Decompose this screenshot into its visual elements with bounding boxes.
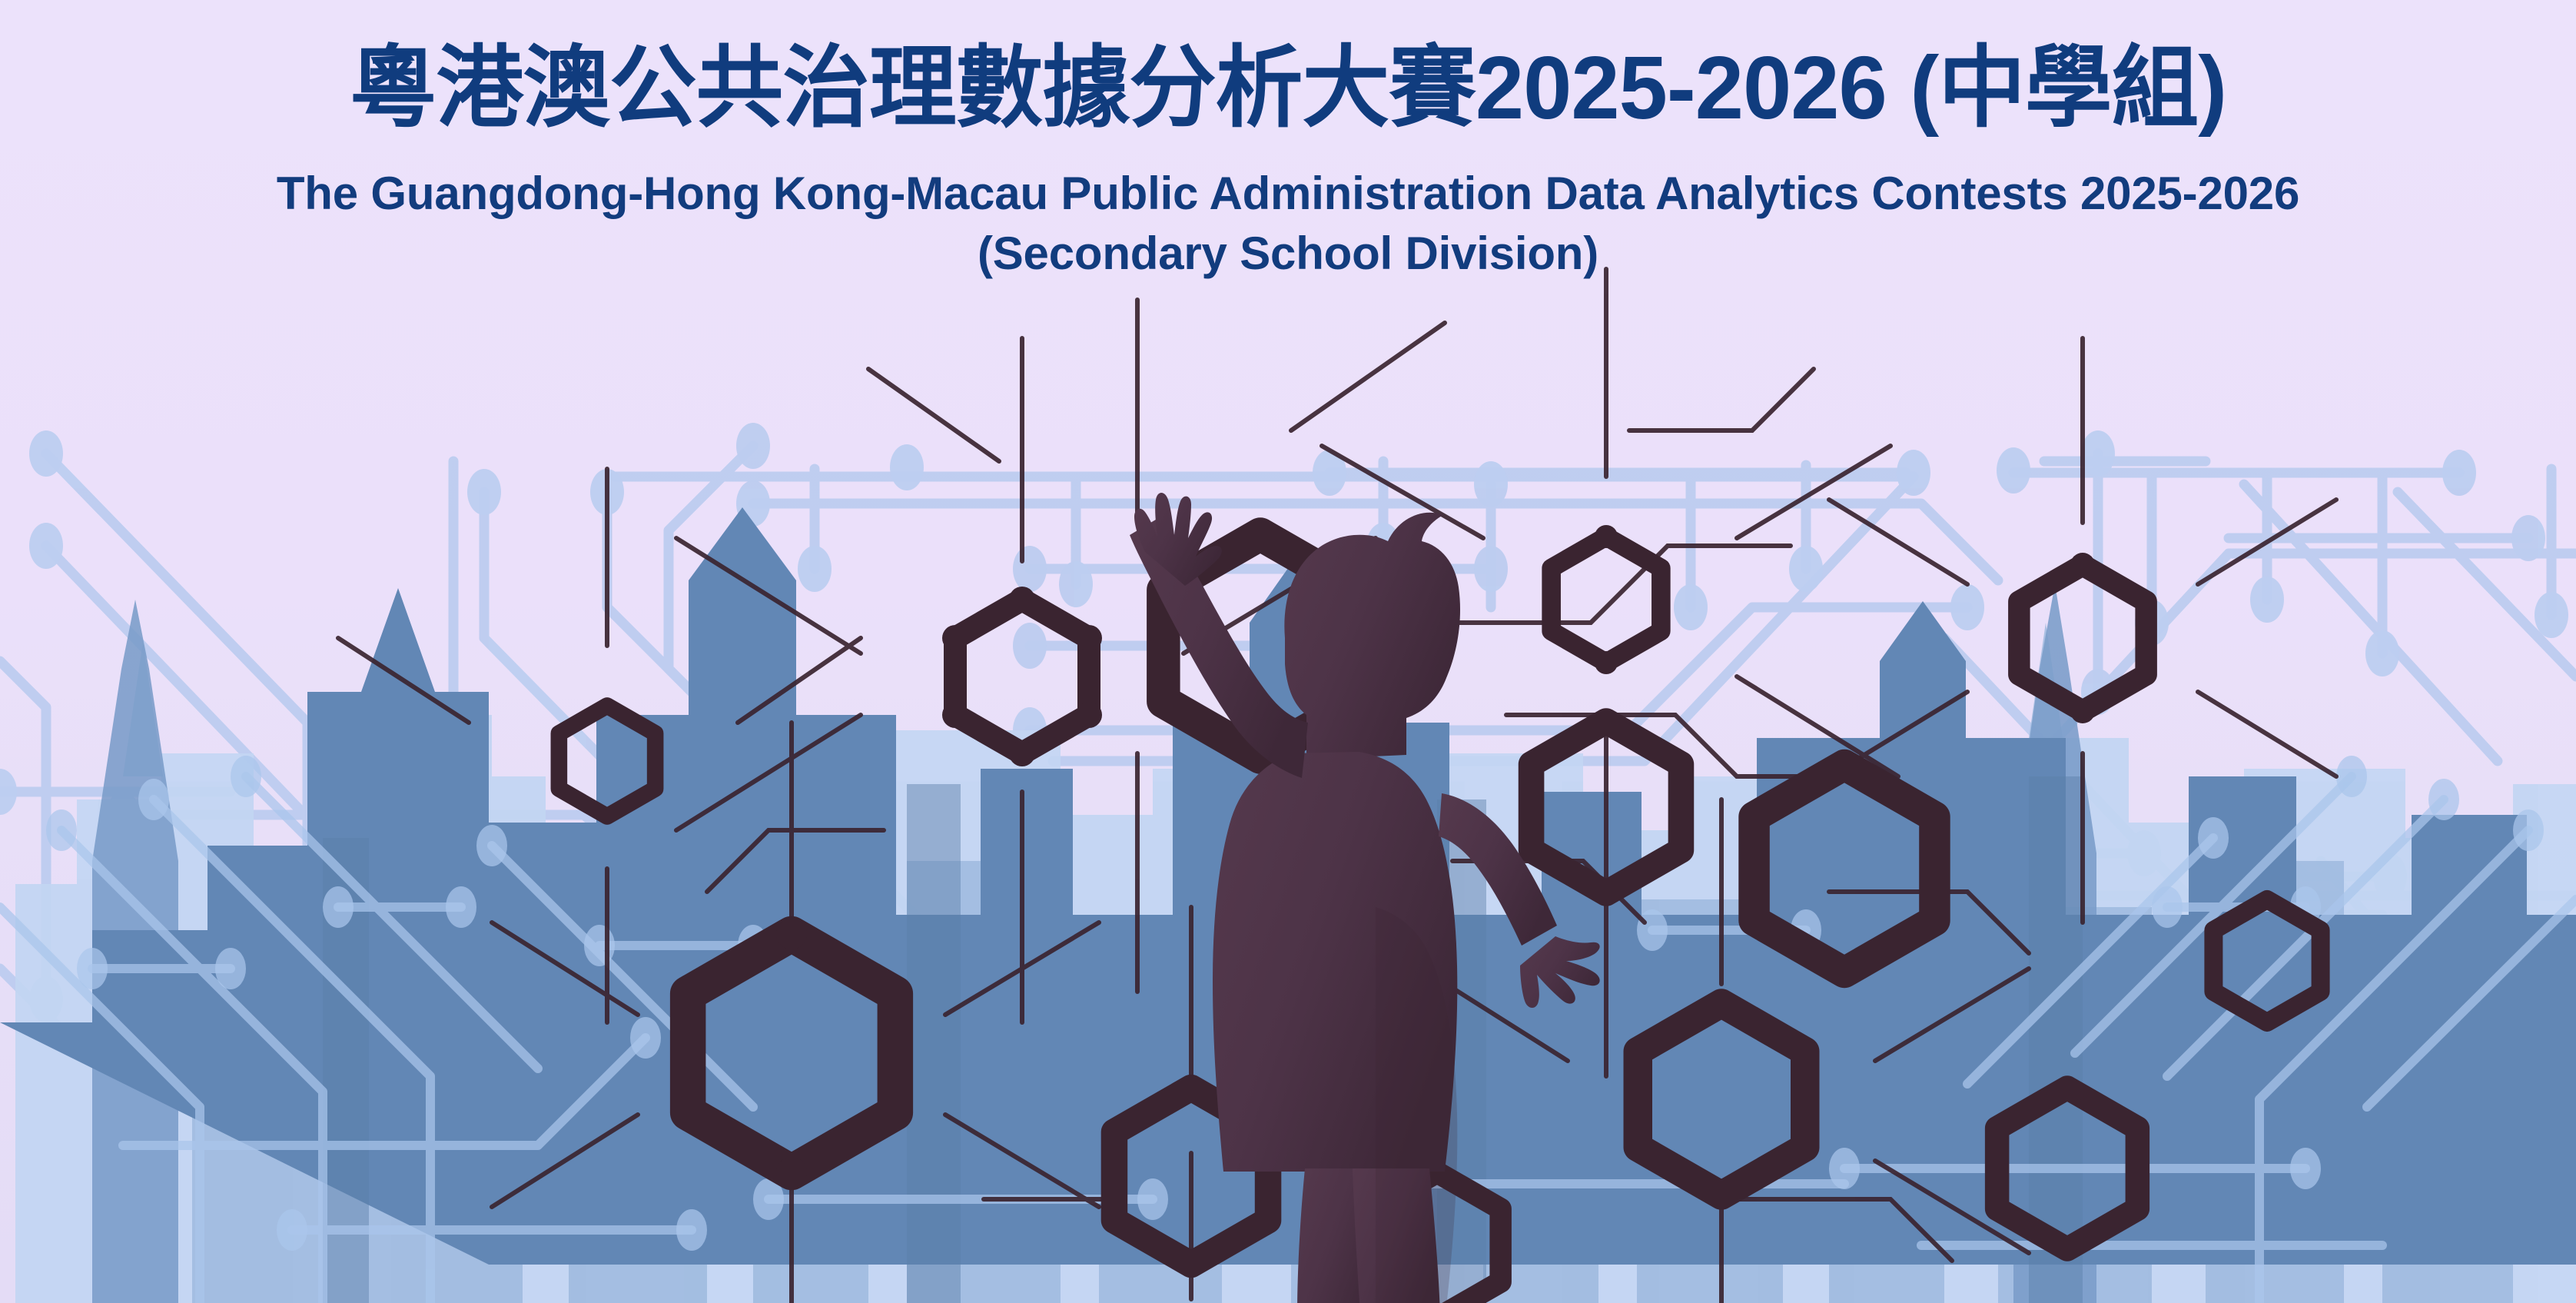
- contest-banner: 粵港澳公共治理數據分析大賽2025-2026 (中學組) The Guangdo…: [0, 0, 2576, 1303]
- page-subtitle-english: The Guangdong-Hong Kong-Macau Public Adm…: [0, 164, 2576, 284]
- page-title-chinese: 粵港澳公共治理數據分析大賽2025-2026 (中學組): [26, 35, 2551, 141]
- subtitle-line-1: The Guangdong-Hong Kong-Macau Public Adm…: [0, 164, 2576, 224]
- banner-text-block: 粵港澳公共治理數據分析大賽2025-2026 (中學組) The Guangdo…: [0, 0, 2576, 284]
- subtitle-line-2: (Secondary School Division): [0, 224, 2576, 284]
